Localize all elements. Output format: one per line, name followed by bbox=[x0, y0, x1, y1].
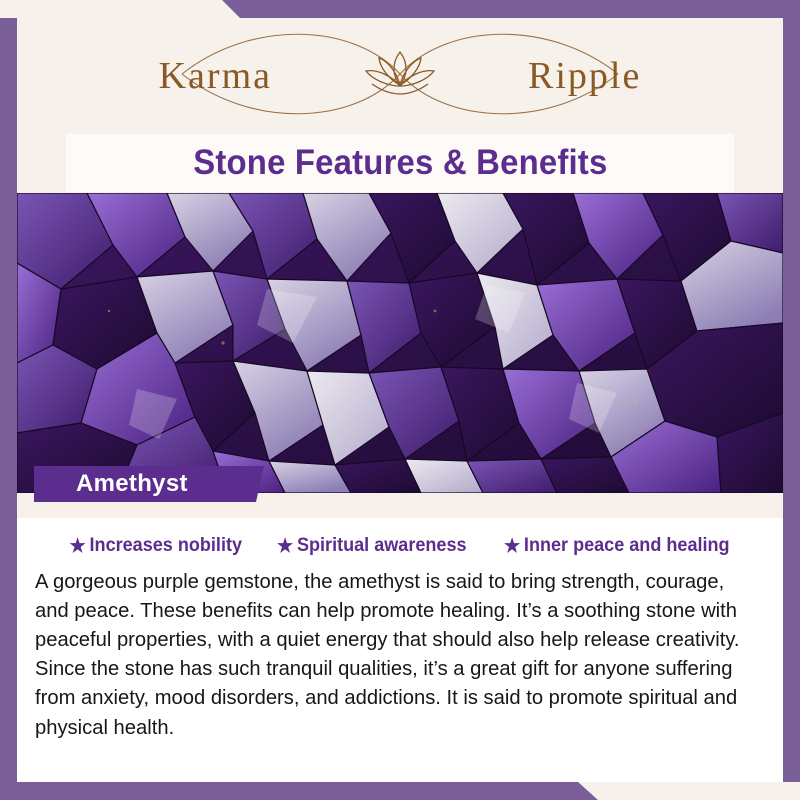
star-icon: ★ bbox=[504, 537, 520, 556]
stone-name-banner: Amethyst bbox=[34, 466, 264, 502]
benefit-item-3: ★ Inner peace and healing bbox=[504, 535, 730, 557]
frame-accent-top-right bbox=[0, 0, 800, 18]
page-title: Stone Features & Benefits bbox=[193, 143, 607, 183]
frame-accent-right bbox=[783, 18, 800, 782]
stone-photo bbox=[17, 193, 783, 493]
brand-name-left: Karma bbox=[159, 55, 272, 97]
benefit-item-2: ★ Spiritual awareness bbox=[277, 535, 467, 557]
lotus-icon bbox=[366, 52, 434, 94]
stone-photo-illustration bbox=[17, 193, 783, 493]
section-title-banner: Stone Features & Benefits bbox=[66, 134, 734, 192]
star-icon: ★ bbox=[277, 537, 293, 556]
star-icon: ★ bbox=[69, 537, 85, 556]
logo-svg: Karma Ripple bbox=[120, 28, 680, 120]
benefit-item-1: ★ Increases nobility bbox=[69, 535, 241, 557]
benefit-label: Spiritual awareness bbox=[297, 535, 467, 557]
stone-name: Amethyst bbox=[76, 470, 188, 498]
frame-accent-bottom-left bbox=[0, 782, 800, 800]
brand-logo: Karma Ripple bbox=[17, 26, 783, 122]
brand-name-right: Ripple bbox=[528, 55, 641, 97]
card-inner: Karma Ripple Stone Features & Benefits bbox=[17, 18, 783, 782]
description-card: ★ Increases nobility ★ Spiritual awarene… bbox=[17, 518, 783, 782]
frame-accent-left bbox=[0, 18, 17, 782]
benefit-label: Inner peace and healing bbox=[524, 535, 730, 557]
benefits-list: ★ Increases nobility ★ Spiritual awarene… bbox=[17, 518, 783, 561]
benefit-label: Increases nobility bbox=[89, 535, 241, 557]
product-info-card: Karma Ripple Stone Features & Benefits bbox=[0, 0, 800, 800]
stone-description: A gorgeous purple gemstone, the amethyst… bbox=[35, 567, 754, 742]
